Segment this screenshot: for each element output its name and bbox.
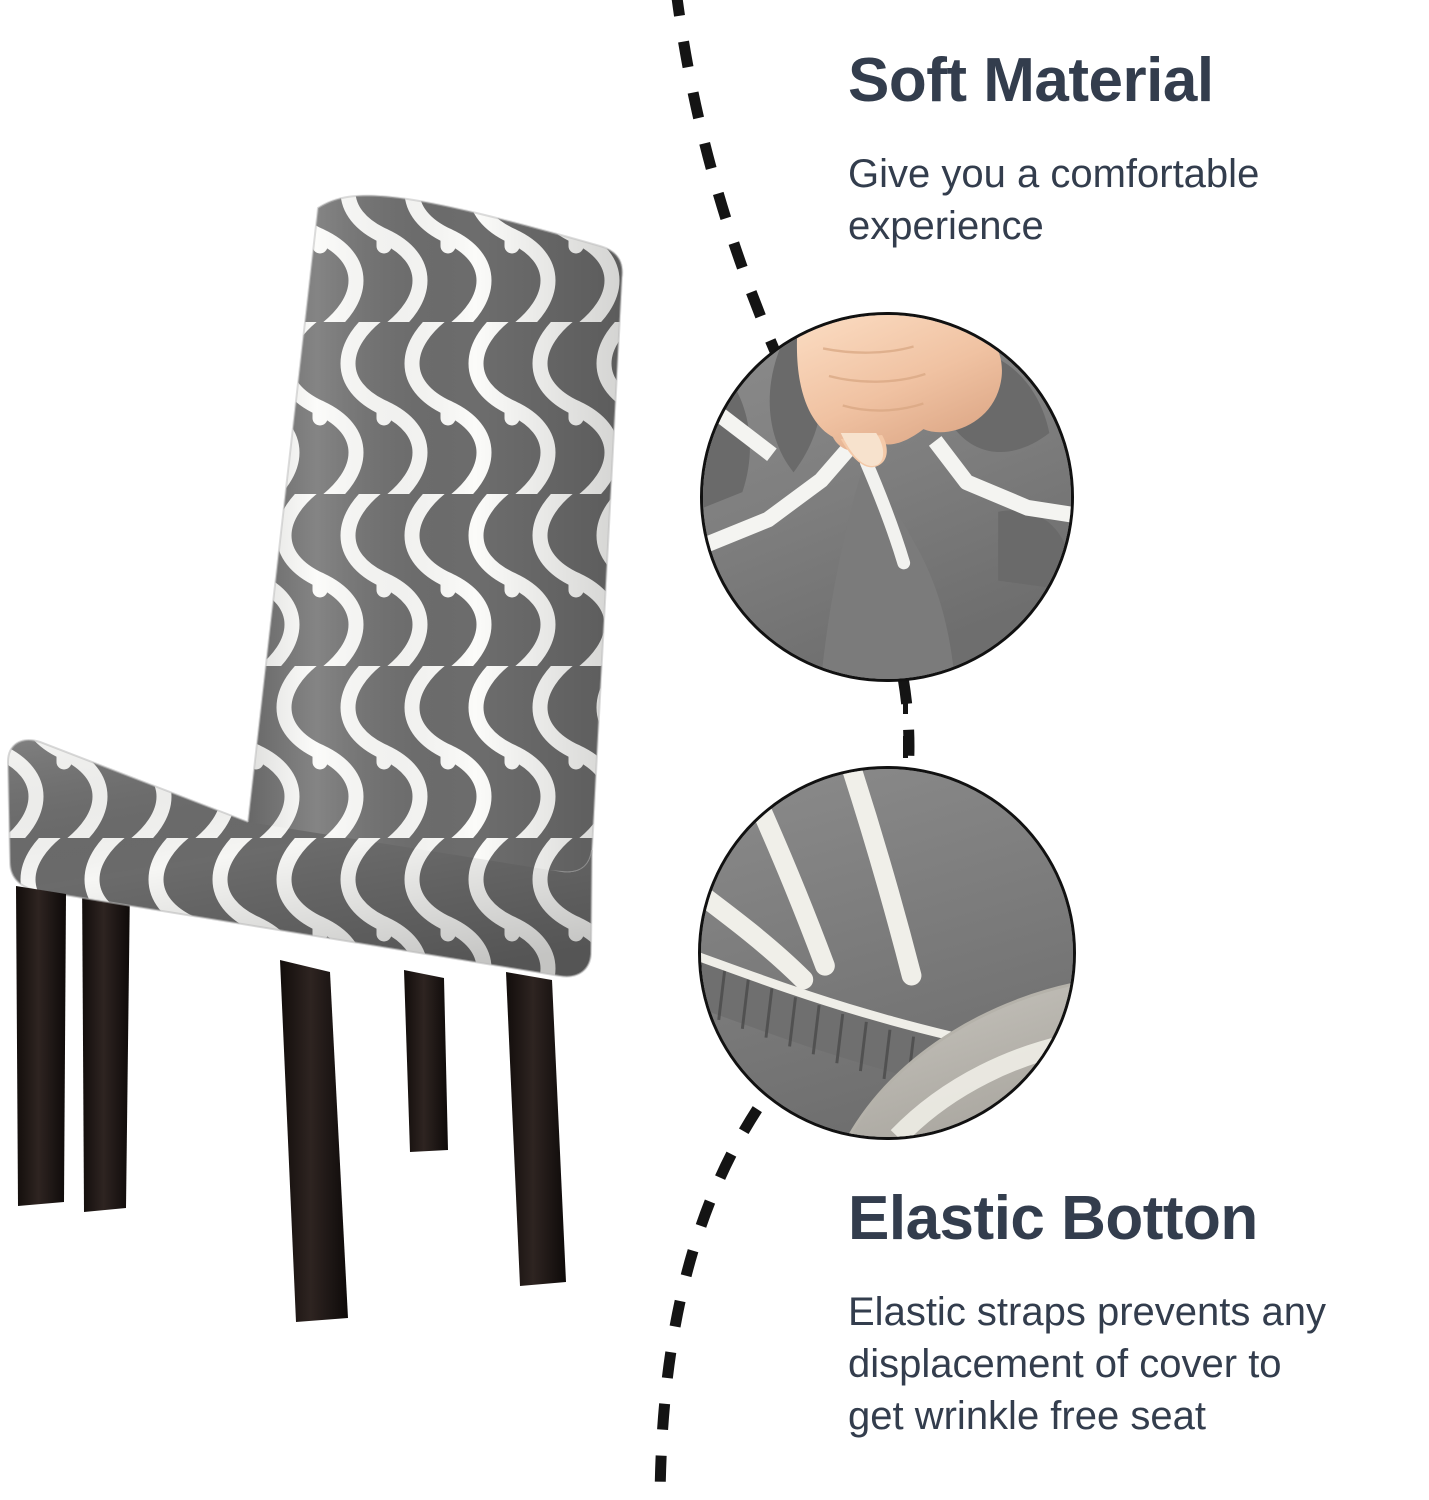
- callout-soft-material: [700, 312, 1074, 682]
- feature-description-elastic-bottom: Elastic straps prevents any displacement…: [848, 1286, 1423, 1442]
- chair-leg-side-right: [506, 972, 566, 1286]
- chair-illustration: [0, 150, 680, 1330]
- dashed-connector: [903, 692, 908, 764]
- infographic-canvas: Soft Material Give you a comfortable exp…: [0, 0, 1429, 1500]
- elastic-gathered-hem-icon: [701, 769, 1073, 1137]
- chair-leg-rear-left: [82, 874, 130, 1212]
- feature-headline-soft-material: Soft Material: [848, 48, 1408, 114]
- feature-block-soft-material: Soft Material Give you a comfortable exp…: [848, 48, 1408, 252]
- chair-leg-front-left: [16, 886, 66, 1206]
- feature-description-line: Elastic straps prevents any: [848, 1290, 1326, 1334]
- callout-elastic-bottom: [698, 766, 1076, 1140]
- chair-leg-rear-right: [404, 970, 448, 1152]
- feature-description-line: experience: [848, 204, 1044, 248]
- feature-description-soft-material: Give you a comfortable experience: [848, 148, 1408, 252]
- hand-stretching-fabric-icon: [703, 315, 1071, 679]
- feature-block-elastic-bottom: Elastic Botton Elastic straps prevents a…: [848, 1186, 1423, 1442]
- feature-description-line: displacement of cover to: [848, 1342, 1282, 1386]
- feature-description-line: get wrinkle free seat: [848, 1394, 1206, 1438]
- feature-description-line: Give you a comfortable: [848, 152, 1259, 196]
- chair-leg-front-right: [280, 960, 348, 1322]
- feature-headline-elastic-bottom: Elastic Botton: [848, 1186, 1423, 1252]
